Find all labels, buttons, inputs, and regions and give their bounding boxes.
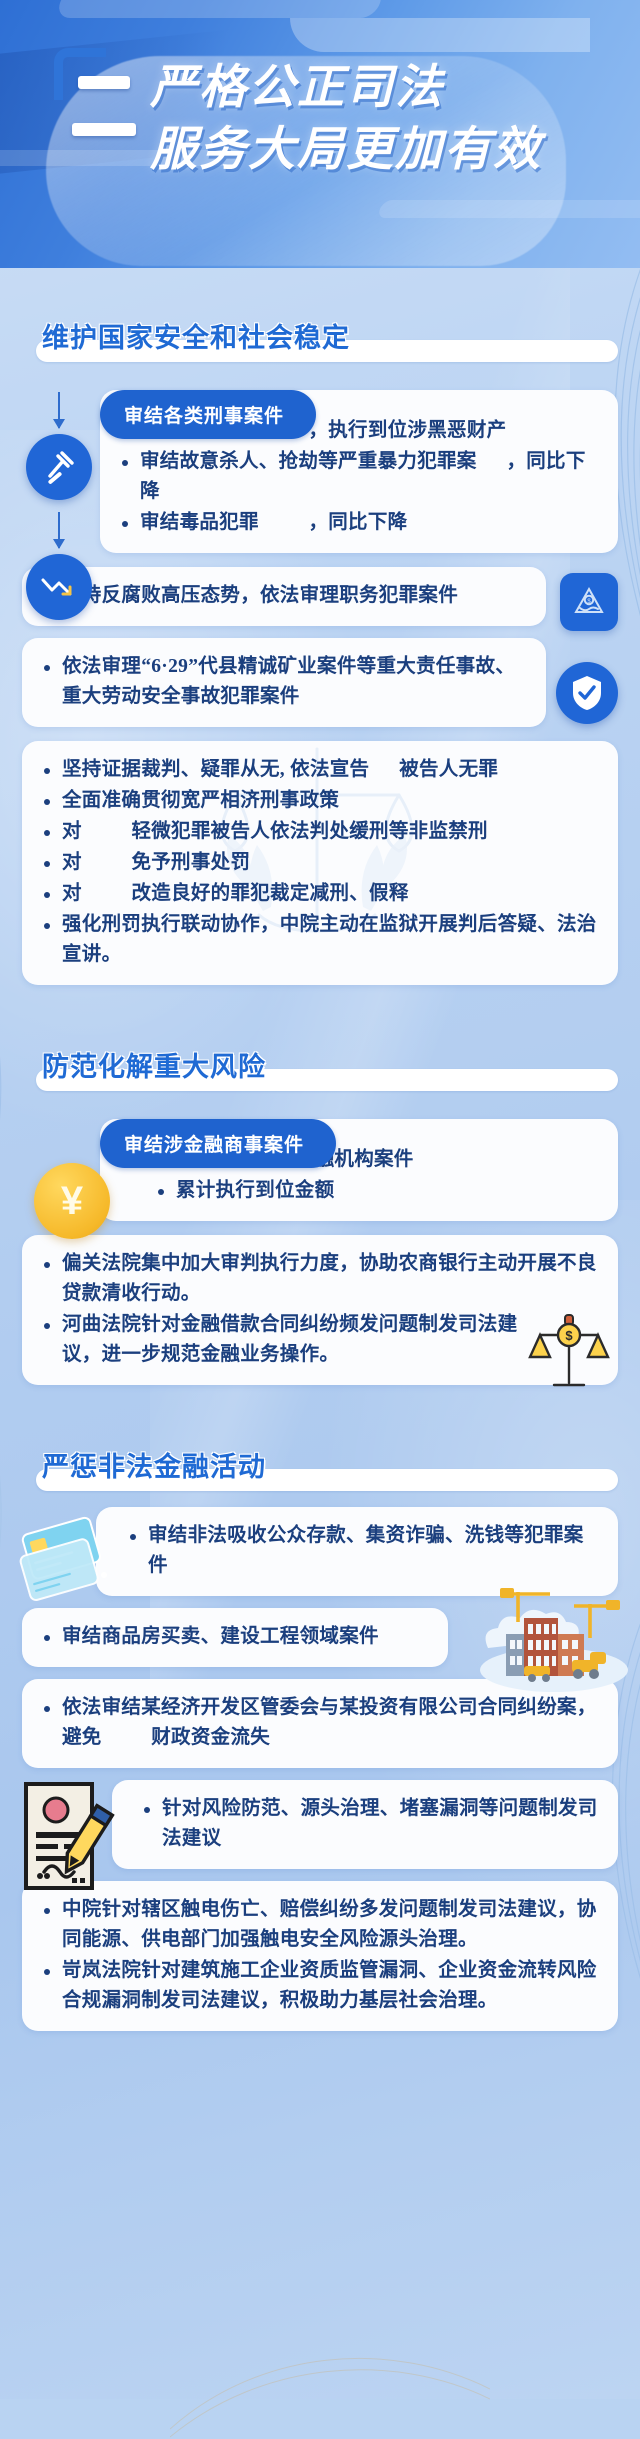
- credit-card-icon: [16, 1509, 112, 1613]
- list-item: 审结商品房买卖、建设工程领域案件: [40, 1622, 432, 1652]
- list-item: 对 免予刑事处罚: [40, 848, 602, 878]
- bullet-list: 依法审理“6·29”代县精诚矿业案件等重大责任事故、重大劳动安全事故犯罪案件: [40, 652, 530, 712]
- card-judicial-advice: 针对风险防范、源头治理、堵塞漏洞等问题制发司法建议: [112, 1780, 618, 1869]
- list-item: 岢岚法院针对建筑施工企业资质监管漏洞、企业资金流转风险合规漏洞制发司法建议，积极…: [40, 1956, 602, 2016]
- bullet-list: 审结商品房买卖、建设工程领域案件: [40, 1622, 432, 1652]
- header-streak: [290, 18, 590, 52]
- card-real-estate: 审结商品房买卖、建设工程领域案件: [22, 1608, 448, 1667]
- poster-header: 严格公正司法 服务大局更加有效: [0, 0, 640, 268]
- section-heading-national-security: 维护国家安全和社会稳定: [22, 320, 618, 366]
- card-major-accidents: 依法审理“6·29”代县精诚矿业案件等重大责任事故、重大劳动安全事故犯罪案件: [22, 638, 546, 727]
- pill-label-financial-cases: 审结涉金融商事案件: [100, 1119, 336, 1168]
- bullet-list: 审结非法吸收公众存款、集资诈骗、洗钱等犯罪案件: [114, 1521, 602, 1581]
- card-anti-corruption: 保持反腐败高压态势，依法审理职务犯罪案件: [22, 567, 546, 626]
- document-pen-icon: [14, 1776, 124, 1902]
- list-item: 对 改造良好的罪犯裁定减刑、假释: [40, 879, 602, 909]
- list-item: 偏关法院集中加大审判执行力度，协助农商银行主动开展不良贷款清收行动。: [40, 1249, 602, 1309]
- list-item: 依法审结某经济开发区管委会与某投资有限公司合同纠纷案，避免 财政资金流失: [40, 1693, 602, 1753]
- section-heading-illegal-finance: 严惩非法金融活动: [22, 1449, 618, 1495]
- bullet-list: 坚持证据裁判、疑罪从无, 依法宣告 被告人无罪 全面准确贯彻宽严相济刑事政策 对…: [40, 755, 602, 970]
- card-grassroots-governance: 中院针对辖区触电伤亡、赔偿纠纷多发问题制发司法建议，协同能源、供电部门加强触电安…: [22, 1881, 618, 2031]
- list-item: 河曲法院针对金融借款合同纠纷频发问题制发司法建议，进一步规范金融业务操作。: [40, 1310, 602, 1370]
- list-item: 审结故意杀人、抢劫等严重暴力犯罪案 ，同比下降: [118, 447, 602, 507]
- money-hand-icon: $: [560, 573, 618, 631]
- list-item: 对 轻微犯罪被告人依法判处缓刑等非监禁刑: [40, 817, 602, 847]
- svg-text:$: $: [565, 1328, 573, 1343]
- list-item: 保持反腐败高压态势，依法审理职务犯罪案件: [40, 581, 530, 611]
- list-item: 累计执行到位金额: [154, 1176, 602, 1206]
- bullet-list: 依法审结某经济开发区管委会与某投资有限公司合同纠纷案，避免 财政资金流失: [40, 1693, 602, 1753]
- bullet-list: 保持反腐败高压态势，依法审理职务犯罪案件: [40, 581, 530, 611]
- construction-icon: [462, 1582, 632, 1702]
- list-item: 审结非法吸收公众存款、集资诈骗、洗钱等犯罪案件: [126, 1521, 602, 1581]
- page-title-line-2: 服务大局更加有效: [150, 118, 620, 180]
- yuan-coin-icon: ¥: [34, 1163, 110, 1239]
- trend-down-icon: [26, 554, 92, 620]
- bullet-list: 针对风险防范、源头治理、堵塞漏洞等问题制发司法建议: [130, 1794, 602, 1854]
- bullet-list: 中院针对辖区触电伤亡、赔偿纠纷多发问题制发司法建议，协同能源、供电部门加强触电安…: [40, 1895, 602, 2016]
- shield-check-icon: [556, 662, 618, 724]
- pill-label-criminal-cases: 审结各类刑事案件: [100, 390, 316, 439]
- section-heading-major-risks: 防范化解重大风险: [22, 1049, 618, 1095]
- list-item: 中院针对辖区触电伤亡、赔偿纠纷多发问题制发司法建议，协同能源、供电部门加强触电安…: [40, 1895, 602, 1955]
- list-item: 依法审理“6·29”代县精诚矿业案件等重大责任事故、重大劳动安全事故犯罪案件: [40, 652, 530, 712]
- header-streak: [55, 0, 385, 18]
- list-item: 全面准确贯彻宽严相济刑事政策: [40, 786, 602, 816]
- list-item: 强化刑罚执行联动协作，中院主动在监狱开展判后答疑、法治宣讲。: [40, 910, 602, 970]
- section-heading-text: 防范化解重大风险: [42, 1047, 266, 1087]
- page-title-line-1: 严格公正司法: [150, 56, 620, 118]
- card-criminal-policy: 坚持证据裁判、疑罪从无, 依法宣告 被告人无罪 全面准确贯彻宽严相济刑事政策 对…: [22, 741, 618, 985]
- list-item: 坚持证据裁判、疑罪从无, 依法宣告 被告人无罪: [40, 755, 602, 785]
- section-heading-text: 维护国家安全和社会稳定: [42, 318, 350, 358]
- gavel-icon: [26, 434, 92, 500]
- section-heading-text: 严惩非法金融活动: [42, 1447, 266, 1487]
- page-title: 严格公正司法 服务大局更加有效: [150, 56, 620, 180]
- arrow-down-icon: [58, 392, 60, 428]
- bullet-list: 偏关法院集中加大审判执行力度，协助农商银行主动开展不良贷款清收行动。 河曲法院针…: [40, 1249, 602, 1370]
- section-number-icon: [72, 62, 138, 154]
- list-item: 针对风险防范、源头治理、堵塞漏洞等问题制发司法建议: [140, 1794, 602, 1854]
- arrow-down-icon: [58, 512, 60, 548]
- scales-money-icon: $: [526, 1309, 612, 1395]
- list-item: 审结毒品犯罪 ，同比下降: [118, 508, 602, 538]
